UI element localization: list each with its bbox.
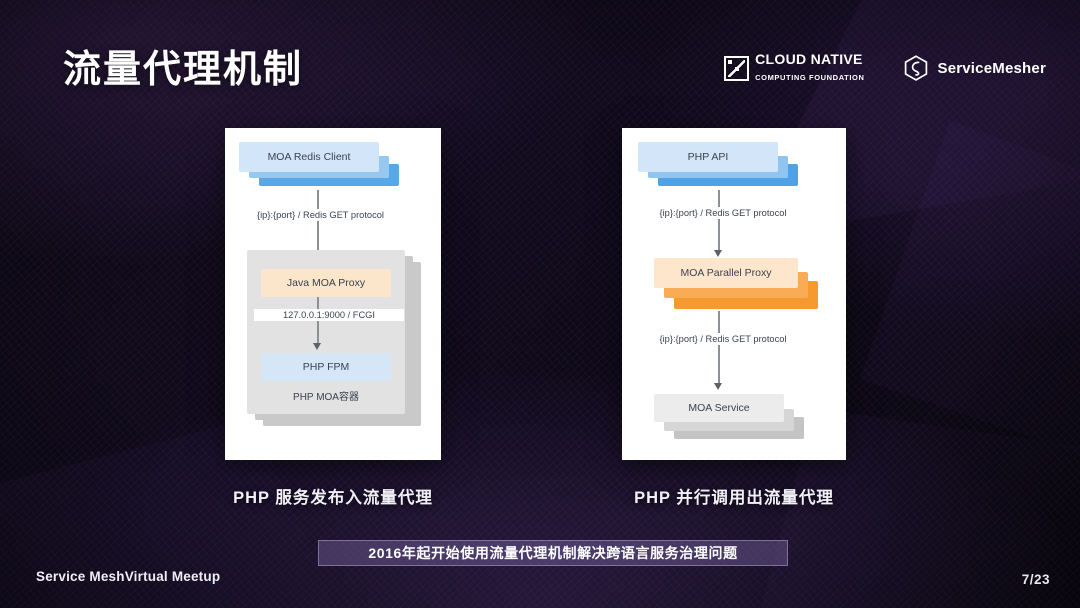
edge-arrowhead-4 [714, 383, 722, 390]
logo-bar: CLOUD NATIVE COMPUTING FOUNDATION Servic… [724, 52, 1046, 84]
caption-right-diagram: PHP 并行调用出流量代理 [622, 484, 846, 508]
slide-root: 流量代理机制 CLOUD NATIVE COMPUTING FOUNDATION… [0, 0, 1080, 608]
caption-left-diagram: PHP 服务发布入流量代理 [225, 484, 441, 508]
edge-arrowhead-3 [714, 250, 722, 257]
edge-line-2 [317, 297, 319, 345]
cncf-logo-line1: CLOUD NATIVE [755, 51, 863, 67]
servicemesher-label: ServiceMesher [937, 60, 1046, 77]
cncf-helm-icon [724, 56, 749, 81]
cncf-logo: CLOUD NATIVE COMPUTING FOUNDATION [724, 52, 864, 84]
diagram-right: PHP API {ip}:{port} / Redis GET protocol… [622, 128, 846, 460]
node-moa-parallel-proxy: MOA Parallel Proxy [654, 258, 798, 288]
cncf-logo-line2: COMPUTING FOUNDATION [755, 73, 864, 82]
node-java-moa-proxy: Java MOA Proxy [261, 269, 391, 297]
cncf-logo-text: CLOUD NATIVE COMPUTING FOUNDATION [755, 52, 864, 84]
edge-label-client-to-proxy: {ip}:{port} / Redis GET protocol [230, 209, 411, 221]
edge-line-3 [718, 190, 720, 252]
servicemesher-hexagon-icon [904, 55, 928, 82]
container-label-php-moa: PHP MOA容器 [247, 388, 405, 403]
node-moa-service: MOA Service [654, 394, 784, 422]
footer-brand: Service MeshVirtual Meetup [36, 569, 220, 584]
highlight-banner: 2016年起开始使用流量代理机制解决跨语言服务治理问题 [318, 540, 788, 566]
edge-line-1 [317, 190, 319, 256]
edge-line-4 [718, 311, 720, 385]
servicemesher-logo: ServiceMesher [904, 55, 1046, 82]
page-number: 7/23 [1022, 572, 1050, 587]
edge-arrowhead-2 [313, 343, 321, 350]
node-php-api: PHP API [638, 142, 778, 172]
container-php-moa: Java MOA Proxy 127.0.0.1:9000 / FCGI PHP… [247, 250, 405, 414]
edge-label-proxy-to-service: {ip}:{port} / Redis GET protocol [630, 333, 816, 345]
diagram-left: MOA Redis Client {ip}:{port} / Redis GET… [225, 128, 441, 460]
edge-label-proxy-to-fpm: 127.0.0.1:9000 / FCGI [254, 309, 404, 321]
page-title: 流量代理机制 [63, 38, 303, 93]
node-php-fpm: PHP FPM [261, 353, 391, 381]
node-moa-redis-client: MOA Redis Client [239, 142, 379, 172]
edge-label-api-to-parallel-proxy: {ip}:{port} / Redis GET protocol [630, 207, 816, 219]
highlight-banner-text: 2016年起开始使用流量代理机制解决跨语言服务治理问题 [368, 543, 737, 563]
